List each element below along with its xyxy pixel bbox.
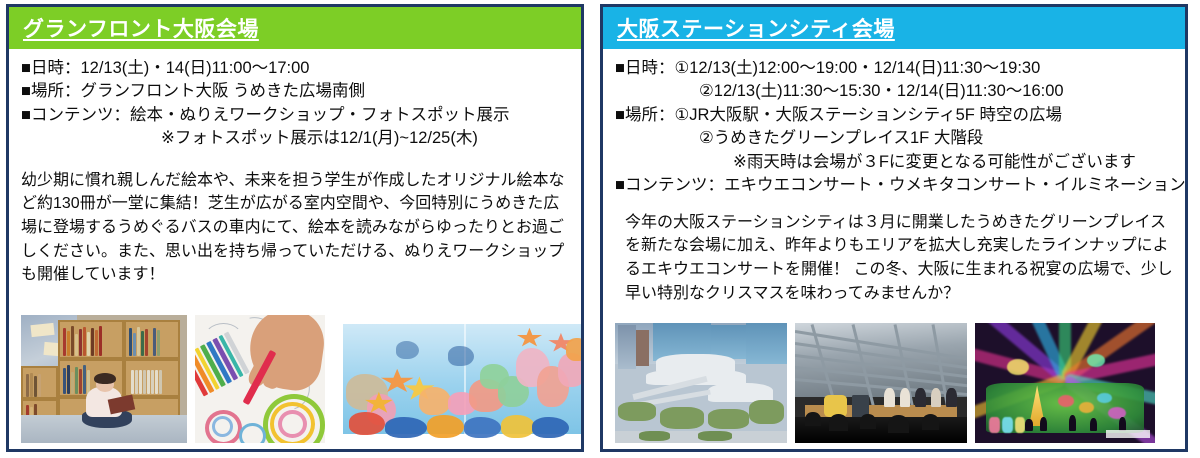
info-value-contents: エキウエコンサート・ウメキタコンサート・イルミネーション: [724, 176, 1186, 194]
panel-body-grand-front-osaka: ■日時：12/13(土)・14(日)11:00〜17:00 ■場所：グランフロン…: [9, 49, 581, 449]
info-value-datetime-1: ①12/13(土)12:00〜19:00・12/14(日)11:30〜19:30: [674, 59, 1040, 77]
info-value-contents-note: ※フォトスポット展示は12/1(月)~12/25(木): [161, 129, 478, 147]
photo-illumination: [975, 323, 1155, 443]
panel-title-grand-front-osaka: グランフロント大阪会場: [23, 13, 259, 43]
panel-header-osaka-station-city: 大阪ステーションシティ会場: [603, 7, 1185, 49]
panel-header-grand-front-osaka: グランフロント大阪会場: [9, 7, 581, 49]
info-value-contents: 絵本・ぬりえワークショップ・フォトスポット展示: [130, 106, 510, 124]
photo-row-osaka-station-city: [615, 323, 1175, 449]
info-row-contents: ■コンテンツ：エキウエコンサート・ウメキタコンサート・イルミネーション: [615, 174, 1175, 197]
info-row-datetime: ■日時：12/13(土)・14(日)11:00〜17:00: [21, 57, 571, 80]
info-list-grand-front-osaka: ■日時：12/13(土)・14(日)11:00〜17:00 ■場所：グランフロン…: [21, 57, 571, 151]
description-osaka-station-city: 今年の大阪ステーションシティは３月に開業したうめきたグリーンプレイスを新たな会場…: [615, 211, 1175, 306]
panel-title-osaka-station-city: 大阪ステーションシティ会場: [617, 13, 895, 43]
info-row-venue-2: ②うめきたグリーンプレイス1F 大階段: [615, 127, 1175, 150]
info-label-contents: ■コンテンツ：: [615, 176, 724, 194]
info-row-datetime-1: ■日時：①12/13(土)12:00〜19:00・12/14(日)11:30〜1…: [615, 57, 1175, 80]
info-value-venue-2: ②うめきたグリーンプレイス1F 大階段: [699, 129, 983, 147]
two-panel-event-board: グランフロント大阪会場 ■日時：12/13(土)・14(日)11:00〜17:0…: [0, 0, 1200, 458]
panel-body-osaka-station-city: ■日時：①12/13(土)12:00〜19:00・12/14(日)11:30〜1…: [603, 49, 1185, 449]
info-value-venue: グランフロント大阪 うめきた広場南側: [80, 82, 365, 100]
photo-picture-book-spread: [333, 315, 584, 443]
info-label-venue: ■場所：: [615, 106, 674, 124]
info-row-venue-note: ※雨天時は会場が３Fに変更となる可能性がございます: [615, 151, 1175, 174]
info-row-contents: ■コンテンツ：絵本・ぬりえワークショップ・フォトスポット展示: [21, 104, 571, 127]
info-value-venue-1: ①JR大阪駅・大阪ステーションシティ5F 時空の広場: [674, 106, 1061, 124]
photo-umekita-green-place: [615, 323, 787, 443]
info-row-datetime-2: ②12/13(土)11:30〜15:30・12/14(日)11:30〜16:00: [615, 80, 1175, 103]
photo-row-grand-front-osaka: [21, 315, 571, 449]
panel-osaka-station-city: 大阪ステーションシティ会場 ■日時：①12/13(土)12:00〜19:00・1…: [600, 4, 1188, 452]
panel-grand-front-osaka: グランフロント大阪会場 ■日時：12/13(土)・14(日)11:00〜17:0…: [6, 4, 584, 452]
info-row-venue: ■場所：グランフロント大阪 うめきた広場南側: [21, 80, 571, 103]
description-grand-front-osaka: 幼少期に慣れ親しんだ絵本や、未来を担う学生が作成したオリジナル絵本など約130冊…: [21, 169, 571, 287]
info-row-contents-note: ※フォトスポット展示は12/1(月)~12/25(木): [21, 127, 571, 150]
info-label-datetime: ■日時：: [615, 59, 674, 77]
info-label-contents: ■コンテンツ：: [21, 106, 130, 124]
info-list-osaka-station-city: ■日時：①12/13(土)12:00〜19:00・12/14(日)11:30〜1…: [615, 57, 1175, 198]
info-row-venue-1: ■場所：①JR大阪駅・大阪ステーションシティ5F 時空の広場: [615, 104, 1175, 127]
info-value-datetime-2: ②12/13(土)11:30〜15:30・12/14(日)11:30〜16:00: [699, 82, 1064, 100]
photo-girl-reading-library: [21, 315, 187, 443]
info-value-datetime: 12/13(土)・14(日)11:00〜17:00: [80, 59, 309, 77]
info-label-datetime: ■日時：: [21, 59, 80, 77]
info-value-venue-note: ※雨天時は会場が３Fに変更となる可能性がございます: [733, 153, 1136, 171]
photo-coloring-by-hand: [195, 315, 325, 443]
info-label-venue: ■場所：: [21, 82, 80, 100]
photo-concert-station-roof: [795, 323, 967, 443]
